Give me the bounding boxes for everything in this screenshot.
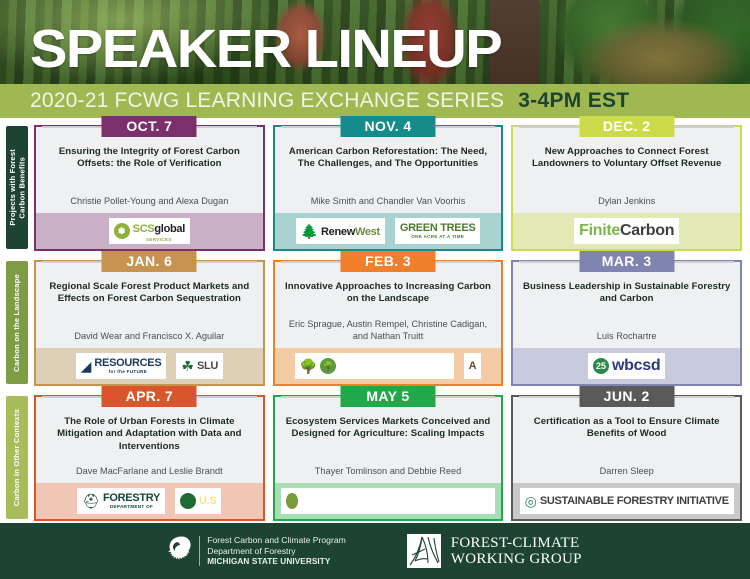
schedule-row: Projects with Forest Carbon BenefitsOCT.… bbox=[0, 122, 742, 255]
session-title: New Approaches to Connect Forest Landown… bbox=[521, 146, 732, 171]
sponsor-logo-strip: ⛑FORESTRYDEPARTMENT OFU.S bbox=[36, 483, 263, 519]
category-rail-label: Projects with Forest Carbon Benefits bbox=[8, 149, 27, 226]
series-time: 3-4PM EST bbox=[518, 89, 629, 113]
session-date-badge: DEC. 2 bbox=[579, 116, 674, 137]
logo-wordmark: SCSglobalSERVICES bbox=[133, 219, 185, 242]
session-speakers: Eric Sprague, Austin Rempel, Christine C… bbox=[283, 314, 494, 346]
session-card[interactable]: MAR. 3Business Leadership in Sustainable… bbox=[511, 260, 742, 386]
session-card[interactable]: APR. 7The Role of Urban Forests in Clima… bbox=[34, 395, 265, 521]
logo-badge-icon bbox=[286, 493, 298, 509]
session-card[interactable]: OCT. 7Ensuring the Integrity of Forest C… bbox=[34, 125, 265, 251]
logo-glyph-icon: 🌳 bbox=[300, 359, 317, 373]
fcwg-logo-block: FOREST-CLIMATE WORKING GROUP bbox=[406, 533, 582, 569]
logo-wordmark: SUSTAINABLE FORESTRY INITIATIVE bbox=[540, 496, 729, 507]
sponsor-logo-strip: ✽SCSglobalSERVICES bbox=[36, 213, 263, 249]
logo-glyph-icon: ◢ bbox=[81, 359, 92, 373]
logo-glyph-icon: ◎ bbox=[525, 494, 537, 508]
logo-sub-text: SERVICES bbox=[146, 237, 172, 242]
logo-badge-icon: 🌳 bbox=[320, 358, 336, 374]
session-title: Business Leadership in Sustainable Fores… bbox=[521, 281, 732, 306]
session-card[interactable]: NOV. 4American Carbon Reforestation: The… bbox=[273, 125, 504, 251]
logo-wordmark: wbcsd bbox=[612, 358, 660, 374]
sponsor-logo-strip: 🌳🌳AMERICAN FORESTSA bbox=[275, 348, 502, 384]
msu-program-line: Forest Carbon and Climate Program bbox=[207, 535, 346, 546]
session-card-body: Ecosystem Services Markets Conceived and… bbox=[275, 410, 502, 483]
session-speakers: Mike Smith and Chandler Van Voorhis bbox=[311, 191, 466, 212]
logo-primary-text: SLU bbox=[197, 361, 218, 372]
sponsor-logo-strip: ◎SUSTAINABLE FORESTRY INITIATIVE bbox=[513, 483, 740, 519]
logo-primary-text: AMERICAN FORESTS bbox=[339, 361, 448, 372]
logo-wordmark: RESOURCESfor the FUTURE bbox=[94, 358, 161, 374]
msu-department-line: Department of Forestry bbox=[207, 546, 346, 557]
session-date-badge: OCT. 7 bbox=[102, 116, 197, 137]
session-card[interactable]: JUN. 2Certification as a Tool to Ensure … bbox=[511, 395, 742, 521]
logo-glyph-icon: 🌲 bbox=[301, 224, 318, 238]
logo-sub-text: ONE ACRE AT A TIME bbox=[411, 234, 464, 239]
logo-primary-text: SUSTAINABLE FORESTRY INITIATIVE bbox=[540, 496, 729, 507]
session-speakers: Thayer Tomlinson and Debbie Reed bbox=[315, 461, 461, 482]
session-card-body: American Carbon Reforestation: The Need,… bbox=[275, 140, 502, 213]
fcwg-text-block: FOREST-CLIMATE WORKING GROUP bbox=[451, 535, 582, 568]
session-speakers: Dylan Jenkins bbox=[598, 191, 655, 212]
session-card-body: The Role of Urban Forests in Climate Mit… bbox=[36, 410, 263, 483]
session-date-badge: MAR. 3 bbox=[579, 251, 674, 272]
page-title: SPEAKER LINEUP bbox=[30, 22, 501, 76]
msu-text-block: Forest Carbon and Climate Program Depart… bbox=[207, 535, 346, 568]
ecosystem-services-market-consortium-logo: ECOSYSTEM SERVICES MARKET CONSORTIUM bbox=[281, 488, 496, 514]
session-speakers: Luis Rochartre bbox=[597, 326, 657, 347]
session-card[interactable]: MAY 5Ecosystem Services Markets Conceive… bbox=[273, 395, 504, 521]
logo-wordmark: FiniteCarbon bbox=[579, 222, 674, 240]
schedule-grid: Projects with Forest Carbon BenefitsOCT.… bbox=[0, 118, 750, 523]
logo-wordmark: AMERICAN FORESTS bbox=[339, 361, 448, 372]
logo-secondary-text: global bbox=[154, 223, 185, 235]
logo-wordmark: ECOSYSTEM SERVICES MARKET CONSORTIUM bbox=[301, 490, 490, 512]
series-subtitle-bar: 2020-21 FCWG LEARNING EXCHANGE SERIES 3-… bbox=[0, 84, 750, 118]
logo-text-row: SCSglobal bbox=[133, 219, 185, 237]
category-rail-label: Carbon in Other Contexts bbox=[12, 409, 21, 506]
logo-primary-text: Renew bbox=[321, 226, 355, 238]
logo-wordmark: RenewWest bbox=[321, 222, 380, 240]
session-speakers: Christie Pollet-Young and Alexa Dugan bbox=[70, 191, 228, 212]
msu-university-line: MICHIGAN STATE UNIVERSITY bbox=[207, 557, 346, 568]
logo-sub-text: for the FUTURE bbox=[109, 369, 147, 374]
session-speakers: Darren Sleep bbox=[600, 461, 654, 482]
session-date-badge: FEB. 3 bbox=[341, 251, 436, 272]
logo-primary-text: GREEN TREES bbox=[400, 223, 476, 234]
footer: Forest Carbon and Climate Program Depart… bbox=[0, 523, 750, 579]
fcwg-line-1: FOREST-CLIMATE bbox=[451, 535, 582, 552]
hero-banner: SPEAKER LINEUP 2020-21 FCWG LEARNING EXC… bbox=[0, 0, 750, 118]
logo-wordmark: SLU bbox=[197, 361, 218, 372]
session-speakers: David Wear and Francisco X. Aguilar bbox=[74, 326, 224, 347]
logo-secondary-text: West bbox=[355, 226, 380, 238]
session-title: Certification as a Tool to Ensure Climat… bbox=[521, 416, 732, 441]
session-card-body: Ensuring the Integrity of Forest Carbon … bbox=[36, 140, 263, 213]
logo-text-row: FiniteCarbon bbox=[579, 222, 674, 240]
sponsor-logo-strip: ◢RESOURCESfor the FUTURE☘SLU bbox=[36, 348, 263, 384]
logo-wordmark: FORESTRYDEPARTMENT OF bbox=[103, 493, 160, 509]
logo-wordmark: A bbox=[469, 361, 477, 372]
logo-badge-icon bbox=[180, 493, 196, 509]
sponsor-logo-strip: 25wbcsd bbox=[513, 348, 740, 384]
card-group: JAN. 6Regional Scale Forest Product Mark… bbox=[32, 257, 742, 390]
session-card[interactable]: JAN. 6Regional Scale Forest Product Mark… bbox=[34, 260, 265, 386]
slu-logo: ☘SLU bbox=[176, 353, 223, 379]
session-card[interactable]: FEB. 3Innovative Approaches to Increasin… bbox=[273, 260, 504, 386]
logo-primary-text: Finite bbox=[579, 222, 620, 239]
session-date-badge: JAN. 6 bbox=[102, 251, 197, 272]
schedule-row: Carbon in Other ContextsAPR. 7The Role o… bbox=[0, 392, 742, 525]
sponsor-logo-strip: FiniteCarbon bbox=[513, 213, 740, 249]
session-title: Ecosystem Services Markets Conceived and… bbox=[283, 416, 494, 441]
logo-wordmark: U.S bbox=[199, 496, 216, 507]
session-card-body: Business Leadership in Sustainable Fores… bbox=[513, 275, 740, 348]
logo-badge-icon: ✽ bbox=[114, 223, 130, 239]
fcwg-line-2: WORKING GROUP bbox=[451, 551, 582, 568]
logo-primary-text: FORESTRY bbox=[103, 493, 160, 504]
card-group: APR. 7The Role of Urban Forests in Clima… bbox=[32, 392, 742, 525]
series-subtitle: 2020-21 FCWG LEARNING EXCHANGE SERIES bbox=[30, 89, 504, 113]
speaker-lineup-flyer: SPEAKER LINEUP 2020-21 FCWG LEARNING EXC… bbox=[0, 0, 750, 579]
session-title: Ensuring the Integrity of Forest Carbon … bbox=[44, 146, 255, 171]
session-date-badge: MAY 5 bbox=[341, 386, 436, 407]
msu-forestry-logo: ⛑FORESTRYDEPARTMENT OF bbox=[77, 488, 165, 514]
finitecarbon-logo: FiniteCarbon bbox=[574, 218, 679, 244]
american-forests-logo: 🌳🌳AMERICAN FORESTS bbox=[295, 353, 454, 379]
logo-primary-text: A bbox=[469, 361, 477, 372]
logo-glyph-icon: ☘ bbox=[181, 359, 194, 373]
session-title: Regional Scale Forest Product Markets an… bbox=[44, 281, 255, 306]
card-group: OCT. 7Ensuring the Integrity of Forest C… bbox=[32, 122, 742, 255]
logo-wordmark: GREEN TREESONE ACRE AT A TIME bbox=[400, 223, 476, 239]
spartan-helmet-icon bbox=[168, 536, 192, 566]
session-date-badge: APR. 7 bbox=[102, 386, 197, 407]
logo-text-row: RenewWest bbox=[321, 222, 380, 240]
session-card-body: Certification as a Tool to Ensure Climat… bbox=[513, 410, 740, 483]
resources-for-the-future-logo: ◢RESOURCESfor the FUTURE bbox=[76, 353, 167, 379]
msu-logo-block: Forest Carbon and Climate Program Depart… bbox=[168, 535, 346, 568]
category-rail-3: Carbon in Other Contexts bbox=[6, 396, 28, 519]
logo-primary-text: ECOSYSTEM SERVICES MARKET CONSORTIUM bbox=[301, 490, 490, 512]
greentrees-logo: GREEN TREESONE ACRE AT A TIME bbox=[395, 218, 481, 244]
session-title: American Carbon Reforestation: The Need,… bbox=[283, 146, 494, 171]
session-card-body: Innovative Approaches to Increasing Carb… bbox=[275, 275, 502, 348]
usda-forest-service-logo: U.S bbox=[175, 488, 221, 514]
session-card-body: New Approaches to Connect Forest Landown… bbox=[513, 140, 740, 213]
category-rail-label: Carbon on the Landscape bbox=[12, 274, 21, 372]
divider bbox=[199, 536, 200, 566]
session-title: The Role of Urban Forests in Climate Mit… bbox=[44, 416, 255, 453]
sponsor-logo-strip: 🌲RenewWestGREEN TREESONE ACRE AT A TIME bbox=[275, 213, 502, 249]
category-rail-2: Carbon on the Landscape bbox=[6, 261, 28, 384]
logo-primary-text: U.S bbox=[199, 496, 216, 507]
session-date-badge: NOV. 4 bbox=[341, 116, 436, 137]
category-rail-1: Projects with Forest Carbon Benefits bbox=[6, 126, 28, 249]
session-card-body: Regional Scale Forest Product Markets an… bbox=[36, 275, 263, 348]
session-speakers: Dave MacFarlane and Leslie Brandt bbox=[76, 461, 223, 482]
logo-secondary-text: Carbon bbox=[620, 222, 674, 239]
session-title: Innovative Approaches to Increasing Carb… bbox=[283, 281, 494, 306]
schedule-row: Carbon on the LandscapeJAN. 6Regional Sc… bbox=[0, 257, 742, 390]
american-forest-foundation-logo: A bbox=[464, 353, 482, 379]
renewwest-logo: 🌲RenewWest bbox=[296, 218, 385, 244]
logo-primary-text: SCS bbox=[133, 223, 155, 235]
wbcsd-logo: 25wbcsd bbox=[588, 353, 665, 379]
session-card[interactable]: DEC. 2New Approaches to Connect Forest L… bbox=[511, 125, 742, 251]
logo-primary-text: wbcsd bbox=[612, 358, 660, 374]
logo-primary-text: RESOURCES bbox=[94, 358, 161, 369]
session-date-badge: JUN. 2 bbox=[579, 386, 674, 407]
logo-sub-text: DEPARTMENT OF bbox=[110, 504, 153, 509]
sustainable-forestry-initiative-logo: ◎SUSTAINABLE FORESTRY INITIATIVE bbox=[520, 488, 734, 514]
logo-badge-icon: 25 bbox=[593, 358, 609, 374]
logo-glyph-icon: ⛑ bbox=[82, 494, 100, 508]
scs-global-services-logo: ✽SCSglobalSERVICES bbox=[109, 218, 190, 244]
sponsor-logo-strip: ECOSYSTEM SERVICES MARKET CONSORTIUM bbox=[275, 483, 502, 519]
fcwg-leaf-icon bbox=[406, 533, 442, 569]
